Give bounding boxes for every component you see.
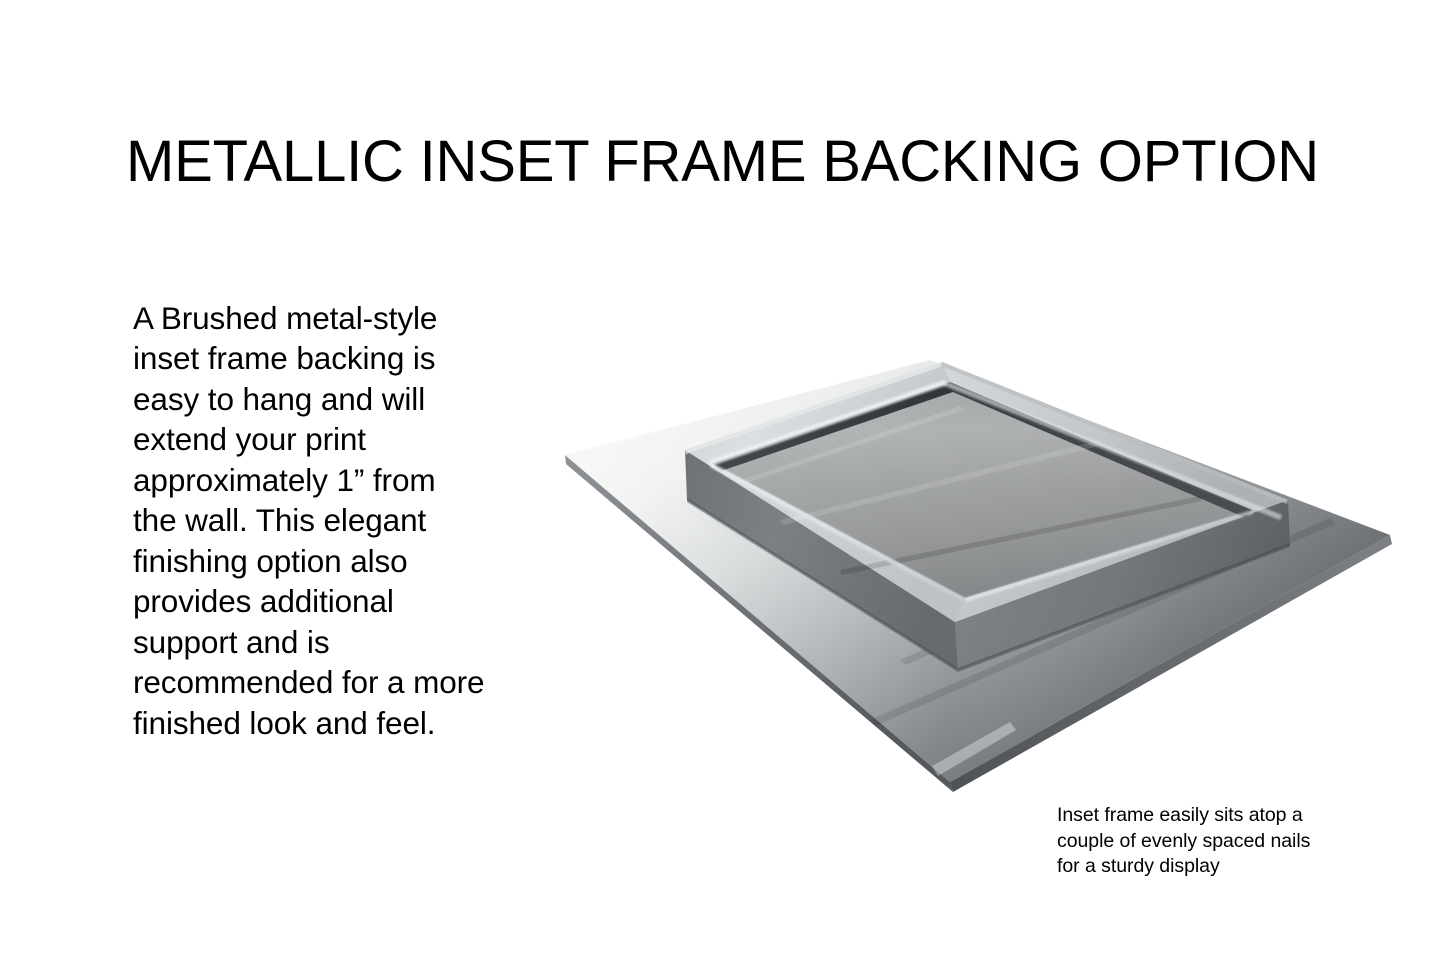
body-paragraph: A Brushed metal-style inset frame backin…: [133, 298, 485, 744]
slide-canvas: METALLIC INSET FRAME BACKING OPTION A Br…: [0, 0, 1445, 963]
illustration-caption: Inset frame easily sits atop a couple of…: [1057, 803, 1357, 880]
caption-line-2: couple of evenly spaced nails: [1057, 829, 1357, 855]
page-title: METALLIC INSET FRAME BACKING OPTION: [126, 131, 1326, 192]
inset-frame-diagram: [540, 330, 1420, 810]
product-illustration: [540, 330, 1420, 810]
caption-line-3: for a sturdy display: [1057, 854, 1357, 880]
caption-line-1: Inset frame easily sits atop a: [1057, 803, 1357, 829]
